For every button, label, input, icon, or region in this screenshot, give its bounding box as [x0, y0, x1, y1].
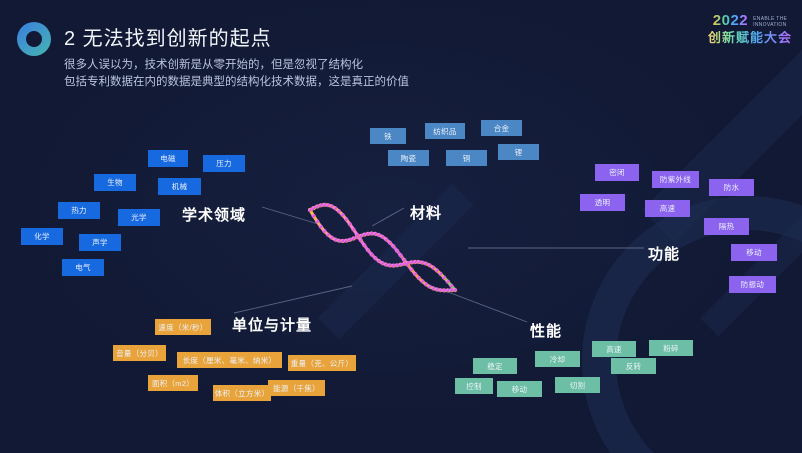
- tag-unit[interactable]: 体积（立方米）: [213, 385, 271, 401]
- tag-function[interactable]: 移动: [731, 244, 777, 261]
- tag-function[interactable]: 防水: [709, 179, 754, 196]
- tag-academic[interactable]: 机械: [158, 178, 201, 195]
- tag-label: 防振动: [741, 279, 764, 290]
- tag-label: 陶瓷: [401, 153, 417, 164]
- page-subtitle: 很多人误以为，技术创新是从零开始的，但是忽视了结构化 包括专利数据在内的数据是典…: [64, 57, 409, 91]
- tag-label: 透明: [595, 197, 611, 208]
- tag-label: 纺织品: [433, 126, 456, 137]
- tag-label: 音量（分贝）: [116, 348, 163, 359]
- tag-unit[interactable]: 长度（厘米、毫米、纳米）: [177, 352, 282, 368]
- tag-label: 高速: [606, 344, 622, 355]
- tag-label: 速度（米/秒）: [158, 322, 207, 333]
- tag-academic[interactable]: 声学: [79, 234, 121, 251]
- tag-label: 能源（千焦）: [273, 383, 320, 394]
- tag-material[interactable]: 合金: [481, 120, 522, 136]
- tag-material[interactable]: 陶瓷: [388, 150, 429, 166]
- tag-label: 长度（厘米、毫米、纳米）: [183, 355, 277, 366]
- logo-name: 创新赋能大会: [708, 31, 792, 44]
- tag-label: 控制: [466, 381, 482, 392]
- tag-label: 切割: [570, 380, 586, 391]
- tag-label: 体积（立方米）: [215, 388, 270, 399]
- tag-academic[interactable]: 生物: [94, 174, 136, 191]
- conference-logo: 2022 ENABLE THE INNOVATION 创新赋能大会: [708, 13, 792, 44]
- tag-label: 冷却: [550, 354, 566, 365]
- tag-function[interactable]: 高速: [645, 200, 690, 217]
- tag-performance[interactable]: 高速: [592, 341, 636, 357]
- tag-label: 高速: [660, 203, 676, 214]
- logo-top-row: 2022 ENABLE THE INNOVATION: [708, 13, 792, 28]
- tag-label: 密闭: [609, 167, 625, 178]
- tag-label: 反转: [626, 361, 642, 372]
- tag-academic[interactable]: 压力: [203, 155, 245, 172]
- tag-function[interactable]: 隔热: [704, 218, 749, 235]
- tag-label: 移动: [512, 384, 528, 395]
- tag-label: 压力: [216, 158, 232, 169]
- tag-label: 面积（m2）: [152, 378, 194, 389]
- tag-label: 机械: [172, 181, 188, 192]
- tag-material[interactable]: 锂: [498, 144, 539, 160]
- tag-function[interactable]: 防振动: [729, 276, 776, 293]
- tag-label: 化学: [34, 231, 50, 242]
- tag-unit[interactable]: 面积（m2）: [148, 375, 198, 391]
- tag-label: 稳定: [487, 361, 503, 372]
- cluster-label-performance: 性能: [530, 320, 562, 341]
- tag-unit[interactable]: 能源（千焦）: [268, 380, 325, 396]
- background-stripe-decoration: [700, 141, 802, 336]
- tag-performance[interactable]: 稳定: [473, 358, 517, 374]
- cluster-label-unit: 单位与计量: [232, 314, 312, 335]
- tag-label: 防紫外线: [660, 174, 691, 185]
- tag-performance[interactable]: 控制: [455, 378, 493, 394]
- tag-label: 合金: [494, 123, 510, 134]
- logo-tagline-line2: INNOVATION: [753, 22, 787, 28]
- tag-label: 铜: [463, 153, 471, 164]
- tag-academic[interactable]: 电气: [62, 259, 104, 276]
- tag-function[interactable]: 密闭: [595, 164, 639, 181]
- tag-label: 粉碎: [663, 343, 679, 354]
- ring-icon: [17, 22, 51, 56]
- tag-label: 隔热: [719, 221, 735, 232]
- tag-material[interactable]: 纺织品: [425, 123, 465, 139]
- tag-function[interactable]: 防紫外线: [652, 171, 699, 188]
- tag-unit[interactable]: 速度（米/秒）: [155, 319, 211, 335]
- tag-label: 锂: [515, 147, 523, 158]
- tag-performance[interactable]: 粉碎: [649, 340, 693, 356]
- tag-label: 电气: [75, 262, 91, 273]
- cluster-label-academic: 学术领域: [182, 204, 246, 225]
- cluster-label-material: 材料: [410, 202, 442, 223]
- tag-unit[interactable]: 音量（分贝）: [113, 345, 166, 361]
- tag-academic[interactable]: 化学: [21, 228, 63, 245]
- tag-performance[interactable]: 冷却: [535, 351, 580, 367]
- page-subtitle-line1: 很多人误以为，技术创新是从零开始的，但是忽视了结构化: [64, 57, 409, 74]
- tag-label: 移动: [746, 247, 762, 258]
- tag-label: 重量（克、公斤）: [291, 358, 353, 369]
- tag-unit[interactable]: 重量（克、公斤）: [288, 355, 356, 371]
- tag-label: 电磁: [160, 153, 176, 164]
- slide-canvas: 2 无法找到创新的起点 很多人误以为，技术创新是从零开始的，但是忽视了结构化 包…: [0, 0, 802, 453]
- tag-material[interactable]: 铜: [446, 150, 487, 166]
- tag-label: 光学: [131, 212, 147, 223]
- logo-tagline: ENABLE THE INNOVATION: [753, 16, 787, 28]
- tag-material[interactable]: 铁: [370, 128, 406, 144]
- background-arc-decoration: [582, 196, 802, 453]
- cluster-label-function: 功能: [648, 243, 680, 264]
- tag-label: 热力: [71, 205, 87, 216]
- tag-performance[interactable]: 移动: [497, 381, 542, 397]
- page-title: 2 无法找到创新的起点: [64, 22, 272, 51]
- tag-function[interactable]: 透明: [580, 194, 625, 211]
- page-subtitle-line2: 包括专利数据在内的数据是典型的结构化技术数据，这是真正的价值: [64, 74, 409, 91]
- tag-label: 声学: [92, 237, 108, 248]
- tag-label: 防水: [724, 182, 740, 193]
- tag-academic[interactable]: 电磁: [148, 150, 188, 167]
- tag-academic[interactable]: 热力: [58, 202, 100, 219]
- tag-academic[interactable]: 光学: [118, 209, 160, 226]
- tag-label: 铁: [384, 131, 392, 142]
- tag-label: 生物: [107, 177, 123, 188]
- logo-year: 2022: [713, 13, 748, 28]
- tag-performance[interactable]: 切割: [555, 377, 600, 393]
- tag-performance[interactable]: 反转: [611, 358, 656, 374]
